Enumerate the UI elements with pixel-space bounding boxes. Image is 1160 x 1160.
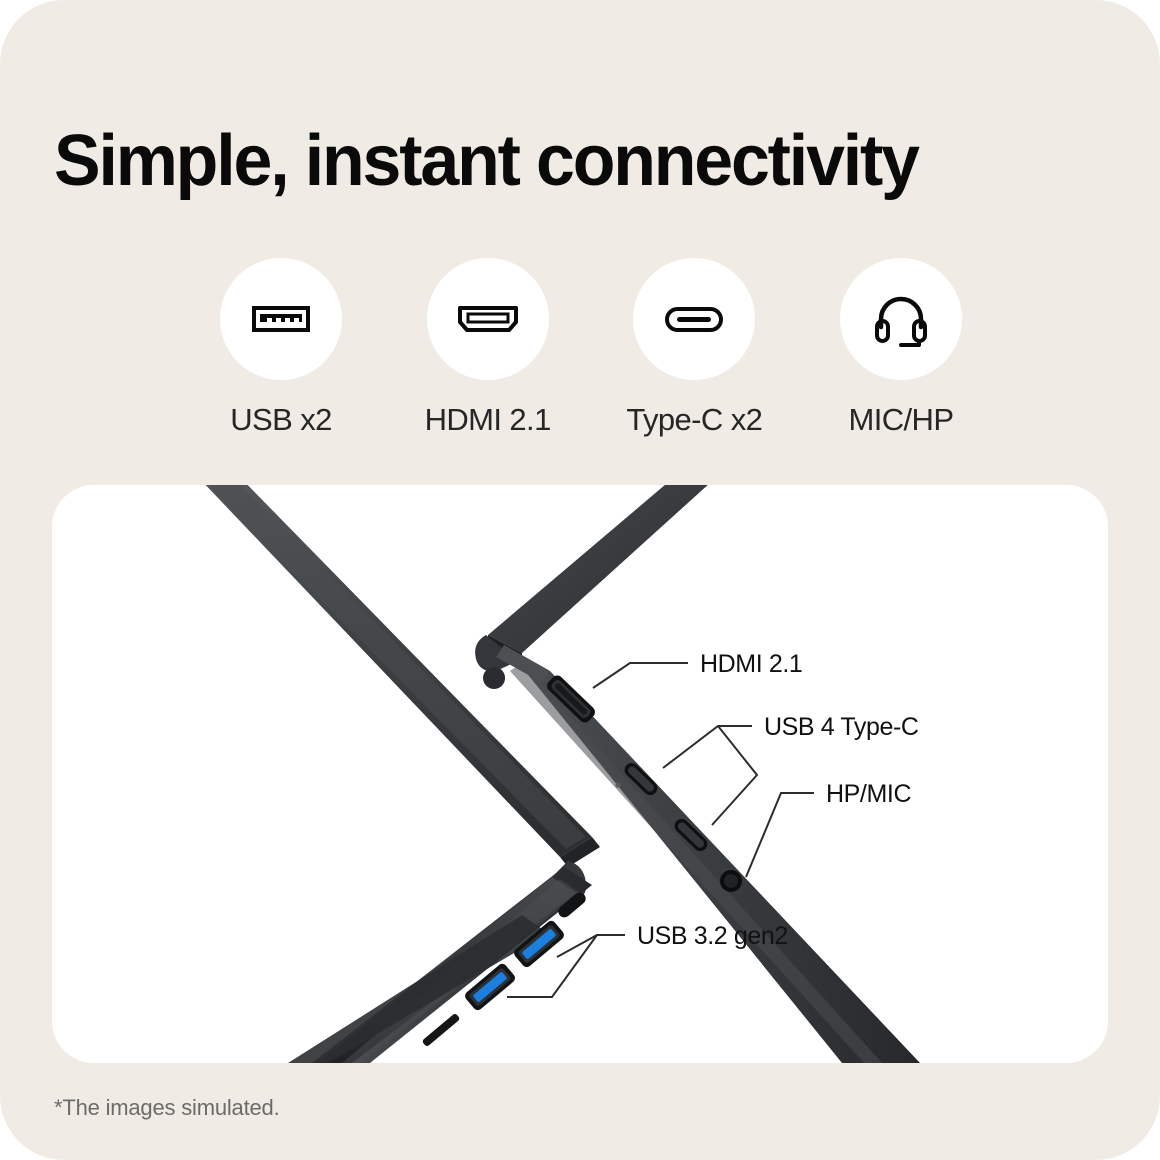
feature-circle-hdmi	[427, 258, 549, 380]
headset-icon	[867, 285, 935, 353]
page-title: Simple, instant connectivity	[54, 118, 1082, 204]
callout-label-hp-mic: HP/MIC	[826, 780, 911, 808]
callout-label-hdmi: HDMI 2.1	[700, 650, 802, 678]
feature-item-michp: MIC/HP	[816, 258, 986, 438]
laptop-ports-photo: HDMI 2.1 USB 4 Type-C HP/MIC USB 3.2 gen…	[52, 485, 1108, 1063]
feature-item-typec: Type-C x2	[609, 258, 779, 438]
feature-label-usb: USB x2	[230, 402, 332, 438]
feature-card: Simple, instant connectivity USB x2	[0, 0, 1160, 1160]
feature-label-michp: MIC/HP	[849, 402, 954, 438]
usb-a-port-icon	[247, 285, 315, 353]
callout-label-usb4-typec: USB 4 Type-C	[764, 713, 919, 741]
feature-circle-typec	[633, 258, 755, 380]
feature-circle-michp	[840, 258, 962, 380]
feature-label-hdmi: HDMI 2.1	[425, 402, 551, 438]
feature-item-usb: USB x2	[196, 258, 366, 438]
usb-c-port-icon	[660, 285, 728, 353]
status-led	[615, 782, 620, 787]
footnote-disclaimer: *The images simulated.	[54, 1094, 279, 1122]
port-headphone-jack	[720, 870, 742, 892]
feature-item-hdmi: HDMI 2.1	[403, 258, 573, 438]
feature-label-typec: Type-C x2	[626, 402, 762, 438]
callout-label-usb32-gen2: USB 3.2 gen2	[637, 922, 788, 950]
feature-circle-usb	[220, 258, 342, 380]
promo-card-root: Simple, instant connectivity USB x2	[0, 0, 1160, 1160]
hdmi-port-icon	[454, 285, 522, 353]
feature-icon-row: USB x2 HDMI 2.1	[196, 258, 986, 448]
